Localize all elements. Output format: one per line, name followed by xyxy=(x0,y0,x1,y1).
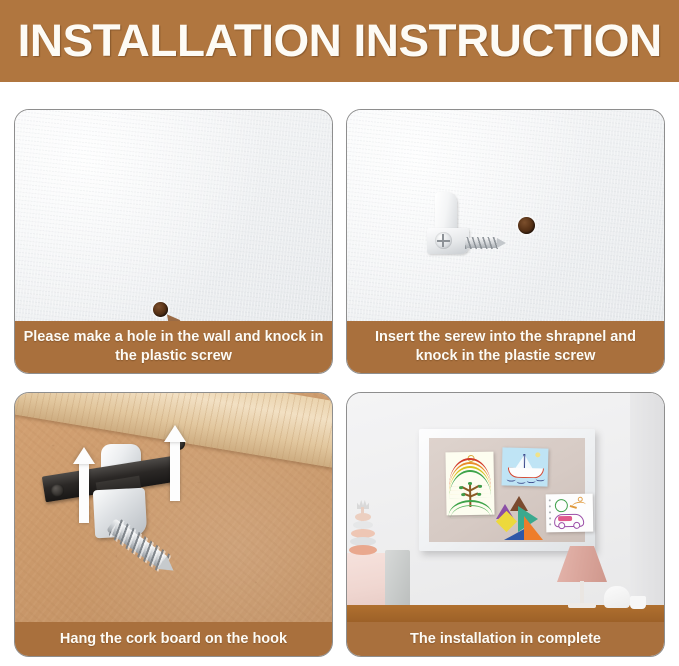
tangram-piece-blue xyxy=(504,528,526,540)
sun-icon xyxy=(535,452,540,457)
sailboat-drawing xyxy=(502,447,549,486)
screw-tip xyxy=(497,238,506,248)
car-wheel xyxy=(573,522,580,529)
green-circle-doodle xyxy=(555,499,568,512)
step-1-caption: Please make a hole in the wall and knock… xyxy=(15,321,332,373)
car-window xyxy=(558,516,572,521)
tree-leaf xyxy=(477,493,481,496)
step-2-caption: Insert the serew into the shrapnel and k… xyxy=(347,321,664,373)
car-drawing xyxy=(546,494,594,533)
header-banner: INSTALLATION INSTRUCTION xyxy=(0,0,679,82)
water-wave xyxy=(507,477,516,482)
wall-hole xyxy=(518,217,535,234)
paper-punch-hole xyxy=(549,523,551,525)
tangram-puzzle xyxy=(496,496,544,544)
step-3-scene xyxy=(15,393,332,656)
step-4-caption: The installation in complete xyxy=(347,622,664,656)
up-arrow-right-head-icon xyxy=(164,425,186,442)
toy-ring xyxy=(355,513,371,521)
page-title: INSTALLATION INSTRUCTION xyxy=(18,15,662,67)
shrapnel-bracket-flag xyxy=(435,192,457,230)
step-4-scene xyxy=(347,393,664,656)
paper-punch-hole xyxy=(549,511,551,513)
tree-leaf xyxy=(459,486,463,489)
tangram-piece-orange xyxy=(524,516,543,540)
up-arrow-right-shaft xyxy=(170,441,180,501)
sun-icon xyxy=(578,497,583,502)
step-1-panel: Please make a hole in the wall and knock… xyxy=(14,109,333,374)
water-wave xyxy=(536,476,545,481)
tree-leaf xyxy=(468,482,472,485)
vase xyxy=(604,586,630,608)
up-arrow-left-shaft xyxy=(79,463,89,523)
installation-instruction-infographic: INSTALLATION INSTRUCTION Please make a h… xyxy=(0,0,679,666)
cup xyxy=(630,596,646,609)
paper-punch-hole xyxy=(549,517,551,519)
paper-punch-hole xyxy=(549,505,551,507)
phillips-cross-icon xyxy=(437,240,450,242)
paper-punch-hole xyxy=(549,499,551,501)
steps-grid: Please make a hole in the wall and knock… xyxy=(14,109,665,657)
car-wheel xyxy=(558,522,565,529)
lamp-base xyxy=(568,603,596,608)
bracket-screw xyxy=(51,484,64,497)
toy-ring xyxy=(349,545,377,555)
cork-board-surface xyxy=(429,438,585,542)
water-wave xyxy=(517,479,526,484)
gray-box xyxy=(385,550,410,605)
step-3-panel: Hang the cork board on the hook xyxy=(14,392,333,657)
tree-leaf xyxy=(461,493,465,496)
step-2-panel: Insert the serew into the shrapnel and k… xyxy=(346,109,665,374)
tree-leaf xyxy=(478,485,482,488)
cork-board-mounted xyxy=(419,429,595,551)
ring-stacking-toy xyxy=(349,500,375,556)
step-3-caption: Hang the cork board on the hook xyxy=(15,622,332,656)
water-wave xyxy=(527,478,536,483)
screw-threads xyxy=(465,237,498,249)
tree-drawing xyxy=(445,452,494,516)
step-4-panel: The installation in complete xyxy=(346,392,665,657)
toy-ring xyxy=(353,521,373,529)
up-arrow-left-head-icon xyxy=(73,447,95,464)
